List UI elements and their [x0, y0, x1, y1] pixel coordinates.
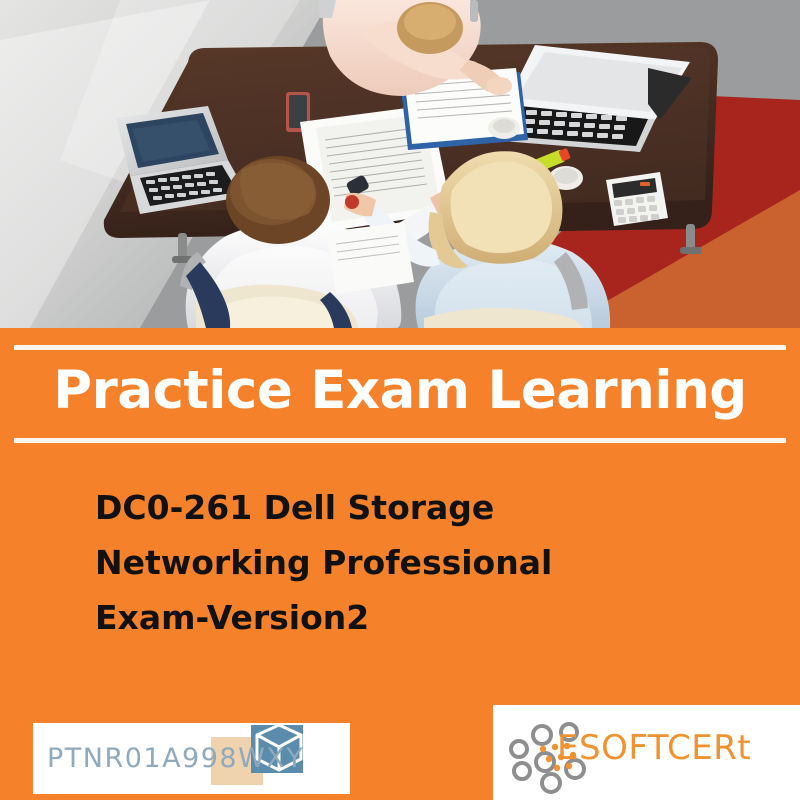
office-meeting-photo	[0, 0, 800, 328]
esoftcert-wordmark: ESOFTCERt	[557, 728, 751, 768]
calculator-icon	[606, 172, 668, 226]
exam-title: DC0-261 Dell Storage Networking Professi…	[95, 480, 655, 645]
exam-title-line-3: Exam-Version2	[95, 590, 655, 645]
partner-code-text: PTNR01A998WXY	[47, 743, 304, 774]
partner-code-logo: PTNR01A998WXY	[33, 723, 350, 794]
divider-top	[14, 345, 786, 350]
page-title: Practice Exam Learning	[0, 358, 800, 424]
divider-bottom	[14, 438, 786, 443]
orange-banner: Practice Exam Learning DC0-261 Dell Stor…	[0, 328, 800, 800]
poster-root: Practice Exam Learning DC0-261 Dell Stor…	[0, 0, 800, 800]
header-photo	[0, 0, 800, 328]
exam-title-line-1: DC0-261 Dell Storage	[95, 480, 655, 535]
exam-title-line-2: Networking Professional	[95, 535, 655, 590]
esoftcert-logo: ESOFTCERt	[493, 705, 800, 800]
